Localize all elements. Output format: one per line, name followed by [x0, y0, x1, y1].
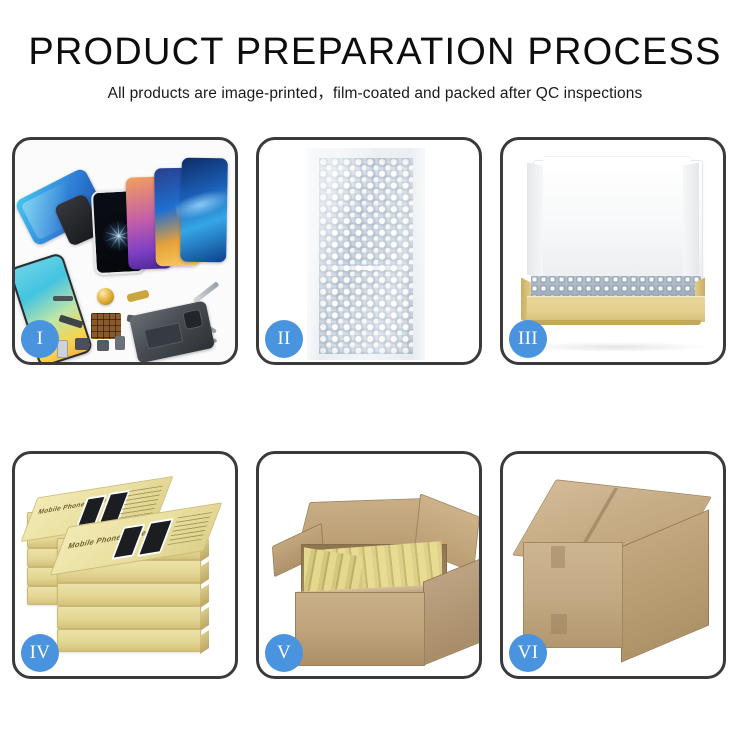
carton-front-panel: [523, 542, 623, 648]
retail-box-layer: [57, 583, 201, 606]
retail-box-layer: [57, 629, 201, 652]
white-lid-top-edge: [543, 156, 691, 170]
battery-part: [144, 322, 183, 349]
step-panel-3: III: [500, 137, 726, 365]
small-component-part: [75, 338, 89, 350]
gold-connector-part: [126, 289, 149, 302]
header: PRODUCT PREPARATION PROCESS All products…: [0, 30, 750, 103]
kraft-tray-base: [531, 320, 701, 325]
step-badge-1: I: [21, 320, 59, 358]
process-steps-grid: I II: [12, 137, 738, 679]
step-badge-5: V: [265, 634, 303, 672]
tweezer-tool: [193, 281, 220, 303]
step-panel-1: I: [12, 137, 238, 365]
retail-box-layer: [57, 606, 201, 629]
bubble-wrap-inside-box: [531, 276, 701, 298]
photo-drop-shadow: [521, 342, 711, 352]
small-component-part: [115, 336, 125, 350]
flex-cable-part: [53, 296, 73, 301]
bubble-wrap-pouch: [307, 148, 425, 360]
gold-coil-part: [97, 288, 114, 305]
step-panel-4: Mobile Phone Spare Parts Mobile Phone Sp…: [12, 451, 238, 679]
lid-flap-right: [683, 163, 699, 278]
kraft-tray-front: [527, 296, 705, 322]
carton-tape-mark: [551, 546, 565, 568]
product-preparation-infographic: PRODUCT PREPARATION PROCESS All products…: [0, 0, 750, 750]
white-box-lid: [533, 160, 703, 282]
carton-front-panel: [295, 592, 425, 666]
step-panel-5: V: [256, 451, 482, 679]
phone-back-housing: [129, 300, 215, 362]
step-panel-6: VI: [500, 451, 726, 679]
lid-flap-left: [527, 163, 543, 278]
sealed-shipping-carton: [521, 484, 713, 660]
sim-tray-part: [57, 340, 68, 358]
open-shipping-carton: [271, 482, 473, 668]
camera-module-icon: [182, 309, 203, 330]
page-subtitle: All products are image-printed，film-coat…: [0, 81, 750, 103]
blue-wave-phone: [180, 158, 228, 263]
step-panel-2: II: [256, 137, 482, 365]
wave-highlight: [173, 182, 235, 225]
step-badge-2: II: [265, 320, 303, 358]
box-print-text-lines: [168, 512, 213, 545]
step-badge-4: IV: [21, 634, 59, 672]
page-title: PRODUCT PREPARATION PROCESS: [0, 30, 750, 74]
step-badge-3: III: [509, 320, 547, 358]
plastic-sheen: [307, 148, 425, 360]
small-component-part: [97, 340, 109, 351]
carton-tape-mark: [551, 614, 567, 634]
step-badge-6: VI: [509, 634, 547, 672]
